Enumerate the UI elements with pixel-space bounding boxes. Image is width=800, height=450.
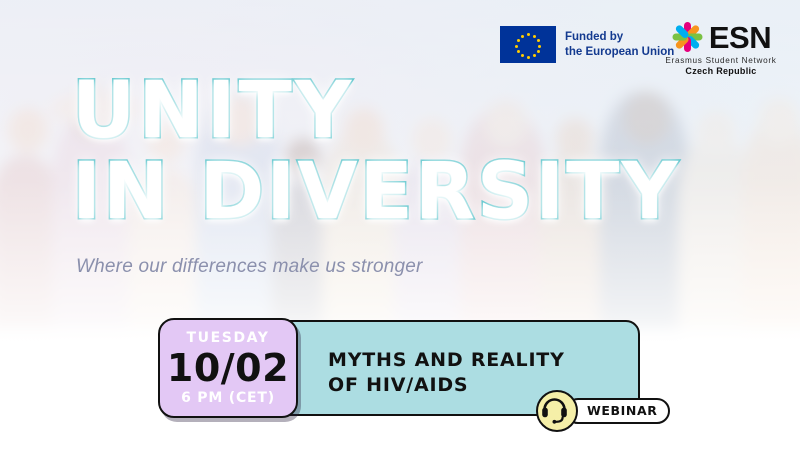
tagline: Where our differences make us stronger	[76, 256, 423, 278]
eu-funding-logo: Funded by the European Union	[500, 26, 674, 63]
headline-line-2: IN DIVERSITY	[72, 155, 772, 230]
date-weekday: TUESDAY	[186, 331, 269, 345]
session-strip: TUESDAY 10/02 6 PM (CET) MYTHS AND REALI…	[158, 318, 640, 418]
poster-canvas: Funded by the European Union ESN Erasmus…	[0, 0, 800, 450]
esn-wordmark: ESN	[709, 22, 771, 53]
date-time: 6 PM (CET)	[181, 391, 275, 405]
headline-line-1: UNITY	[72, 74, 772, 149]
date-number: 10/02	[167, 349, 289, 389]
session-title: MYTHS AND REALITY OF HIV/AIDS	[328, 348, 565, 398]
esn-subtitle-network: Erasmus Student Network	[658, 56, 784, 65]
esn-logo: ESN Erasmus Student Network Czech Republ…	[658, 20, 784, 76]
webinar-label-pill: WEBINAR	[565, 398, 670, 424]
session-title-line-2: OF HIV/AIDS	[328, 373, 565, 398]
webinar-badge: WEBINAR	[536, 390, 670, 432]
esn-starburst-icon	[671, 20, 705, 54]
eu-flag-icon	[500, 26, 556, 63]
session-title-line-1: MYTHS AND REALITY	[328, 348, 565, 373]
webinar-label: WEBINAR	[587, 405, 657, 418]
headline: UNITY IN DIVERSITY	[72, 74, 772, 230]
date-card: TUESDAY 10/02 6 PM (CET)	[158, 318, 298, 418]
esn-logo-top: ESN	[658, 20, 784, 54]
headset-icon	[536, 390, 578, 432]
